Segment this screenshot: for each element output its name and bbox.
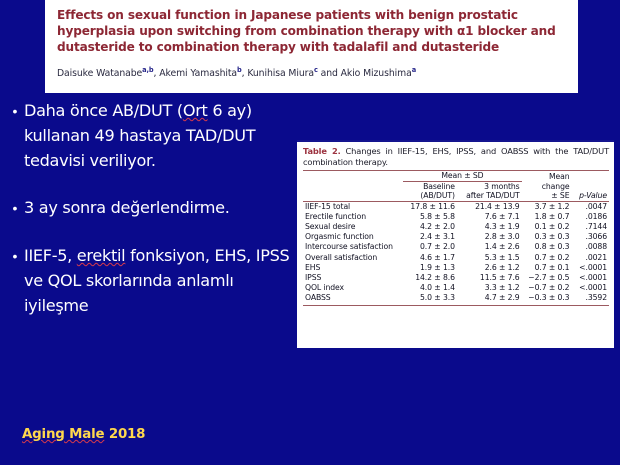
row-label: QOL index [303,283,403,293]
table-row: Sexual desire4.2 ± 2.04.3 ± 1.90.1 ± 0.2… [303,222,609,232]
after-value: 3.3 ± 1.2 [457,283,522,293]
p-value: .3066 [571,232,609,242]
table-sub-header-row-1: Baseline 3 months change [303,181,609,191]
mean-change-value: 0.1 ± 0.2 [522,222,572,232]
after-value: 4.3 ± 1.9 [457,222,522,232]
after-header-line-2: after TAD/DUT [457,191,522,201]
p-value: <.0001 [571,273,609,283]
table-2: Mean ± SD Mean Baseline 3 months change … [303,171,609,304]
p-value: .7144 [571,222,609,232]
baseline-header-line-2: (AB/DUT) [403,191,457,201]
table-row: QOL index4.0 ± 1.43.3 ± 1.2−0.7 ± 0.2<.0… [303,283,609,293]
table-row: Overall satisfaction4.6 ± 1.75.3 ± 1.50.… [303,253,609,263]
after-value: 7.6 ± 7.1 [457,212,522,222]
pvalue-header: p-Value [571,191,609,201]
mean-change-value: 3.7 ± 1.2 [522,201,572,212]
bullet-text-segment: IIEF-5, [24,246,77,265]
row-label: EHS [303,263,403,273]
table-row: Intercourse satisfaction0.7 ± 2.01.4 ± 2… [303,242,609,252]
mean-change-value: −0.3 ± 0.3 [522,293,572,303]
article-title-line-2b: blocker and [473,24,555,38]
row-label: Sexual desire [303,222,403,232]
baseline-value: 0.7 ± 2.0 [403,242,457,252]
mean-change-value: 1.8 ± 0.7 [522,212,572,222]
empty-corner-cell [303,171,403,181]
baseline-value: 17.8 ± 11.6 [403,201,457,212]
mean-change-value: 0.8 ± 0.3 [522,242,572,252]
row-label: OABSS [303,293,403,303]
article-title: Effects on sexual function in Japanese p… [57,7,566,56]
p-value: .0186 [571,212,609,222]
bullet-item: •3 ay sonra değerlendirme. [6,195,298,221]
spellcheck-flagged-word: erektil [77,246,126,265]
source-citation: Aging Male 2018 [22,427,145,442]
slide-canvas: Effects on sexual function in Japanese p… [0,0,620,465]
mean-change-value: −0.7 ± 0.2 [522,283,572,293]
mean-change-value: 0.3 ± 0.3 [522,232,572,242]
baseline-value: 5.0 ± 3.3 [403,293,457,303]
table-row: IPSS14.2 ± 8.611.5 ± 7.6−2.7 ± 0.5<.0001 [303,273,609,283]
author-affiliation-marker: a,b [142,66,153,74]
row-label: IPSS [303,273,403,283]
spellcheck-flagged-word: Ort [183,101,208,120]
author-name: Daisuke Watanabe [57,68,142,79]
pvalue-header-spacer-2 [571,181,609,191]
author-separator: and [318,68,341,79]
article-title-line-3: dutasteride to combination therapy with … [57,40,499,54]
baseline-value: 4.2 ± 2.0 [403,222,457,232]
bullet-text-segment: 3 ay sonra değerlendirme. [24,198,230,217]
after-value: 2.8 ± 3.0 [457,232,522,242]
bullet-marker-icon: • [6,243,24,269]
after-value: 2.6 ± 1.2 [457,263,522,273]
baseline-value: 4.6 ± 1.7 [403,253,457,263]
table-body: IIEF-15 total17.8 ± 11.621.4 ± 13.93.7 ±… [303,201,609,304]
table-head: Mean ± SD Mean Baseline 3 months change … [303,171,609,201]
pvalue-header-spacer [571,171,609,181]
baseline-value: 14.2 ± 8.6 [403,273,457,283]
after-value: 11.5 ± 7.6 [457,273,522,283]
table-row: Erectile function5.8 ± 5.87.6 ± 7.11.8 ±… [303,212,609,222]
journal-name: Aging Male [22,427,104,442]
table-caption: Table 2. Changes in IIEF-15, EHS, IPSS, … [303,146,609,168]
table-row: OABSS5.0 ± 3.34.7 ± 2.9−0.3 ± 0.3.3592 [303,293,609,303]
table-caption-number: Table 2. [303,146,341,156]
table-row: EHS1.9 ± 1.32.6 ± 1.20.7 ± 0.1<.0001 [303,263,609,273]
p-value: .0047 [571,201,609,212]
table-caption-text: Changes in IIEF-15, EHS, IPSS, and OABSS… [303,146,609,167]
p-value: .0021 [571,253,609,263]
group-header-mean-sd: Mean ± SD [403,171,521,181]
alpha-1-symbol: α1 [457,24,473,38]
bullet-text: IIEF-5, erektil fonksiyon, EHS, IPSS ve … [24,243,298,318]
article-authors: Daisuke Watanabea,b, Akemi Yamashitab, K… [57,66,566,79]
bullet-marker-icon: • [6,98,24,124]
author-name: Akemi Yamashita [159,68,237,79]
table-sub-header-row-2: (AB/DUT) after TAD/DUT ± SE p-Value [303,191,609,201]
mean-change-value: 0.7 ± 0.1 [522,263,572,273]
after-value: 21.4 ± 13.9 [457,201,522,212]
bullet-item: •IIEF-5, erektil fonksiyon, EHS, IPSS ve… [6,243,298,318]
change-header-line-2: change [522,181,572,191]
bullet-marker-icon: • [6,195,24,221]
baseline-value: 4.0 ± 1.4 [403,283,457,293]
bullet-text-segment: Daha önce AB/DUT ( [24,101,183,120]
row-label: Overall satisfaction [303,253,403,263]
p-value: .0088 [571,242,609,252]
row-label: Erectile function [303,212,403,222]
article-title-line-1: Effects on sexual function in Japanese p… [57,8,518,22]
p-value: .3592 [571,293,609,303]
bullet-list: •Daha önce AB/DUT (Ort 6 ay) kullanan 49… [6,98,298,340]
author-affiliation-marker: a [412,66,416,74]
table-bottom-rule [303,305,609,306]
row-label-header-2 [303,191,403,201]
article-header-card: Effects on sexual function in Japanese p… [45,0,578,93]
bullet-text: 3 ay sonra değerlendirme. [24,195,298,220]
row-label: Orgasmic function [303,232,403,242]
after-header-line-1: 3 months [457,181,522,191]
baseline-header-line-1: Baseline [403,181,457,191]
table-row: IIEF-15 total17.8 ± 11.621.4 ± 13.93.7 ±… [303,201,609,212]
journal-year: 2018 [104,427,145,442]
baseline-value: 2.4 ± 3.1 [403,232,457,242]
after-value: 1.4 ± 2.6 [457,242,522,252]
article-title-line-2a: hyperplasia upon switching from combinat… [57,24,457,38]
table-group-header-row: Mean ± SD Mean [303,171,609,181]
author-name: Akio Mizushima [341,68,412,79]
mean-change-value: −2.7 ± 0.5 [522,273,572,283]
row-label: Intercourse satisfaction [303,242,403,252]
bullet-item: •Daha önce AB/DUT (Ort 6 ay) kullanan 49… [6,98,298,173]
p-value: <.0001 [571,283,609,293]
mean-change-value: 0.7 ± 0.2 [522,253,572,263]
table-2-panel: Table 2. Changes in IIEF-15, EHS, IPSS, … [297,140,614,348]
author-name: Kunihisa Miura [247,68,314,79]
after-value: 4.7 ± 2.9 [457,293,522,303]
change-header-line-3: ± SE [522,191,572,201]
row-label-header [303,181,403,191]
after-value: 5.3 ± 1.5 [457,253,522,263]
baseline-value: 5.8 ± 5.8 [403,212,457,222]
change-header-line-1: Mean [522,171,572,181]
bullet-text: Daha önce AB/DUT (Ort 6 ay) kullanan 49 … [24,98,298,173]
p-value: <.0001 [571,263,609,273]
table-row: Orgasmic function2.4 ± 3.12.8 ± 3.00.3 ±… [303,232,609,242]
row-label: IIEF-15 total [303,201,403,212]
baseline-value: 1.9 ± 1.3 [403,263,457,273]
